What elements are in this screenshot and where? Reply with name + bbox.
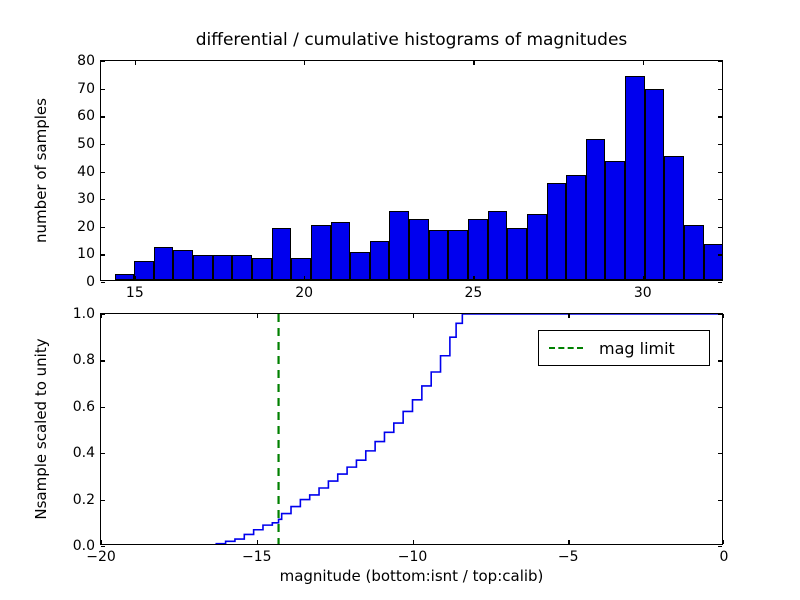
x-tick-mark xyxy=(723,540,724,544)
y-tick-mark xyxy=(101,254,105,255)
histogram-bar xyxy=(547,183,567,280)
y-tick-label: 60 xyxy=(77,108,95,124)
x-tick-label: −20 xyxy=(86,549,116,565)
histogram-bar xyxy=(291,258,311,280)
y-tick-mark xyxy=(101,282,105,283)
histogram-bar xyxy=(389,211,409,280)
histogram-bar xyxy=(429,230,449,280)
histogram-bar xyxy=(193,255,213,280)
x-tick-mark-top xyxy=(135,61,136,65)
y-tick-mark-right xyxy=(718,360,722,361)
x-tick-mark-top xyxy=(413,314,414,318)
histogram-bar xyxy=(134,261,154,280)
y-tick-label: 0.6 xyxy=(73,399,95,415)
y-tick-mark xyxy=(101,116,105,117)
y-tick-label: 0.8 xyxy=(73,352,95,368)
x-tick-mark-top xyxy=(643,61,644,65)
histogram-bar xyxy=(448,230,468,280)
histogram-bar xyxy=(173,250,193,280)
y-tick-mark xyxy=(101,144,105,145)
y-tick-mark xyxy=(101,546,105,547)
y-tick-label: 80 xyxy=(77,53,95,69)
histogram-bar xyxy=(252,258,272,280)
x-tick-mark xyxy=(413,540,414,544)
histogram-bar xyxy=(409,219,429,280)
top-histogram-plot-area xyxy=(101,61,722,280)
histogram-bar xyxy=(468,219,488,280)
y-tick-mark-right xyxy=(718,546,722,547)
y-tick-mark-right xyxy=(718,144,722,145)
figure-xlabel: magnitude (bottom:isnt / top:calib) xyxy=(100,567,723,585)
y-tick-mark xyxy=(101,407,105,408)
y-tick-mark-right xyxy=(718,227,722,228)
x-tick-mark-top xyxy=(101,314,102,318)
x-tick-label: −5 xyxy=(558,549,579,565)
histogram-bar xyxy=(586,139,606,280)
x-tick-label: −15 xyxy=(242,549,272,565)
histogram-bar xyxy=(370,241,390,280)
y-tick-label: 20 xyxy=(77,219,95,235)
x-tick-label: 20 xyxy=(295,285,313,301)
x-tick-label: 30 xyxy=(634,285,652,301)
histogram-bar xyxy=(213,255,233,280)
y-tick-mark-right xyxy=(718,407,722,408)
figure-title: differential / cumulative histograms of … xyxy=(100,30,723,50)
x-tick-mark xyxy=(473,276,474,280)
histogram-bar xyxy=(527,214,547,280)
legend-entry-label: mag limit xyxy=(599,339,675,358)
x-tick-mark-top xyxy=(568,314,569,318)
y-tick-mark xyxy=(101,360,105,361)
figure-canvas: differential / cumulative histograms of … xyxy=(0,0,800,600)
y-tick-mark xyxy=(101,89,105,90)
x-tick-mark xyxy=(304,276,305,280)
bottom-panel-ylabel: Nsample scaled to unity xyxy=(32,313,50,545)
x-tick-mark xyxy=(643,276,644,280)
x-tick-mark xyxy=(257,540,258,544)
histogram-bar xyxy=(272,228,292,280)
histogram-bar xyxy=(488,211,508,280)
histogram-bar xyxy=(154,247,174,280)
x-tick-label: 15 xyxy=(126,285,144,301)
x-tick-label: 0 xyxy=(720,549,729,565)
y-tick-mark xyxy=(101,61,105,62)
legend-box: mag limit xyxy=(538,330,710,366)
x-tick-label: 25 xyxy=(465,285,483,301)
y-tick-mark-right xyxy=(718,116,722,117)
x-tick-mark xyxy=(101,540,102,544)
histogram-bar xyxy=(704,244,722,280)
y-tick-mark-right xyxy=(718,314,722,315)
histogram-bar xyxy=(625,76,645,280)
x-tick-mark xyxy=(135,276,136,280)
y-tick-label: 1.0 xyxy=(73,306,95,322)
y-tick-mark xyxy=(101,172,105,173)
y-tick-label: 40 xyxy=(77,164,95,180)
histogram-bar xyxy=(566,175,586,280)
y-tick-mark xyxy=(101,453,105,454)
y-tick-mark xyxy=(101,199,105,200)
top-panel-ylabel: number of samples xyxy=(32,60,50,281)
x-tick-mark-top xyxy=(304,61,305,65)
y-tick-mark-right xyxy=(718,453,722,454)
y-tick-mark-right xyxy=(718,89,722,90)
y-tick-label: 0.2 xyxy=(73,492,95,508)
y-tick-mark-right xyxy=(718,199,722,200)
x-tick-mark-top xyxy=(473,61,474,65)
x-tick-mark xyxy=(568,540,569,544)
y-tick-mark xyxy=(101,500,105,501)
x-tick-mark-top xyxy=(257,314,258,318)
y-tick-label: 0 xyxy=(86,274,95,290)
histogram-bar xyxy=(232,255,252,280)
histogram-bar xyxy=(645,89,665,280)
cumulative-axes: 0.00.20.40.60.81.0 −20−15−10−50 mag limi… xyxy=(100,313,723,545)
histogram-bar xyxy=(115,274,135,280)
y-tick-mark-right xyxy=(718,172,722,173)
y-tick-mark-right xyxy=(718,254,722,255)
y-tick-label: 10 xyxy=(77,246,95,262)
y-tick-label: 70 xyxy=(77,81,95,97)
histogram-bar xyxy=(507,228,527,280)
mag-limit-line-swatch-icon xyxy=(549,347,583,349)
x-tick-mark-top xyxy=(723,314,724,318)
histogram-bar xyxy=(684,225,704,280)
histogram-bar xyxy=(311,225,331,280)
y-tick-mark xyxy=(101,227,105,228)
histogram-bar xyxy=(605,161,625,280)
y-tick-label: 30 xyxy=(77,191,95,207)
y-tick-mark-right xyxy=(718,500,722,501)
y-tick-mark-right xyxy=(718,282,722,283)
histogram-bar xyxy=(664,156,684,280)
histogram-bar xyxy=(350,252,370,280)
y-tick-label: 50 xyxy=(77,136,95,152)
histogram-bar xyxy=(331,222,351,280)
top-histogram-axes: 01020304050607080 15202530 xyxy=(100,60,723,281)
x-tick-label: −10 xyxy=(398,549,428,565)
y-tick-mark-right xyxy=(718,61,722,62)
y-tick-label: 0.4 xyxy=(73,445,95,461)
